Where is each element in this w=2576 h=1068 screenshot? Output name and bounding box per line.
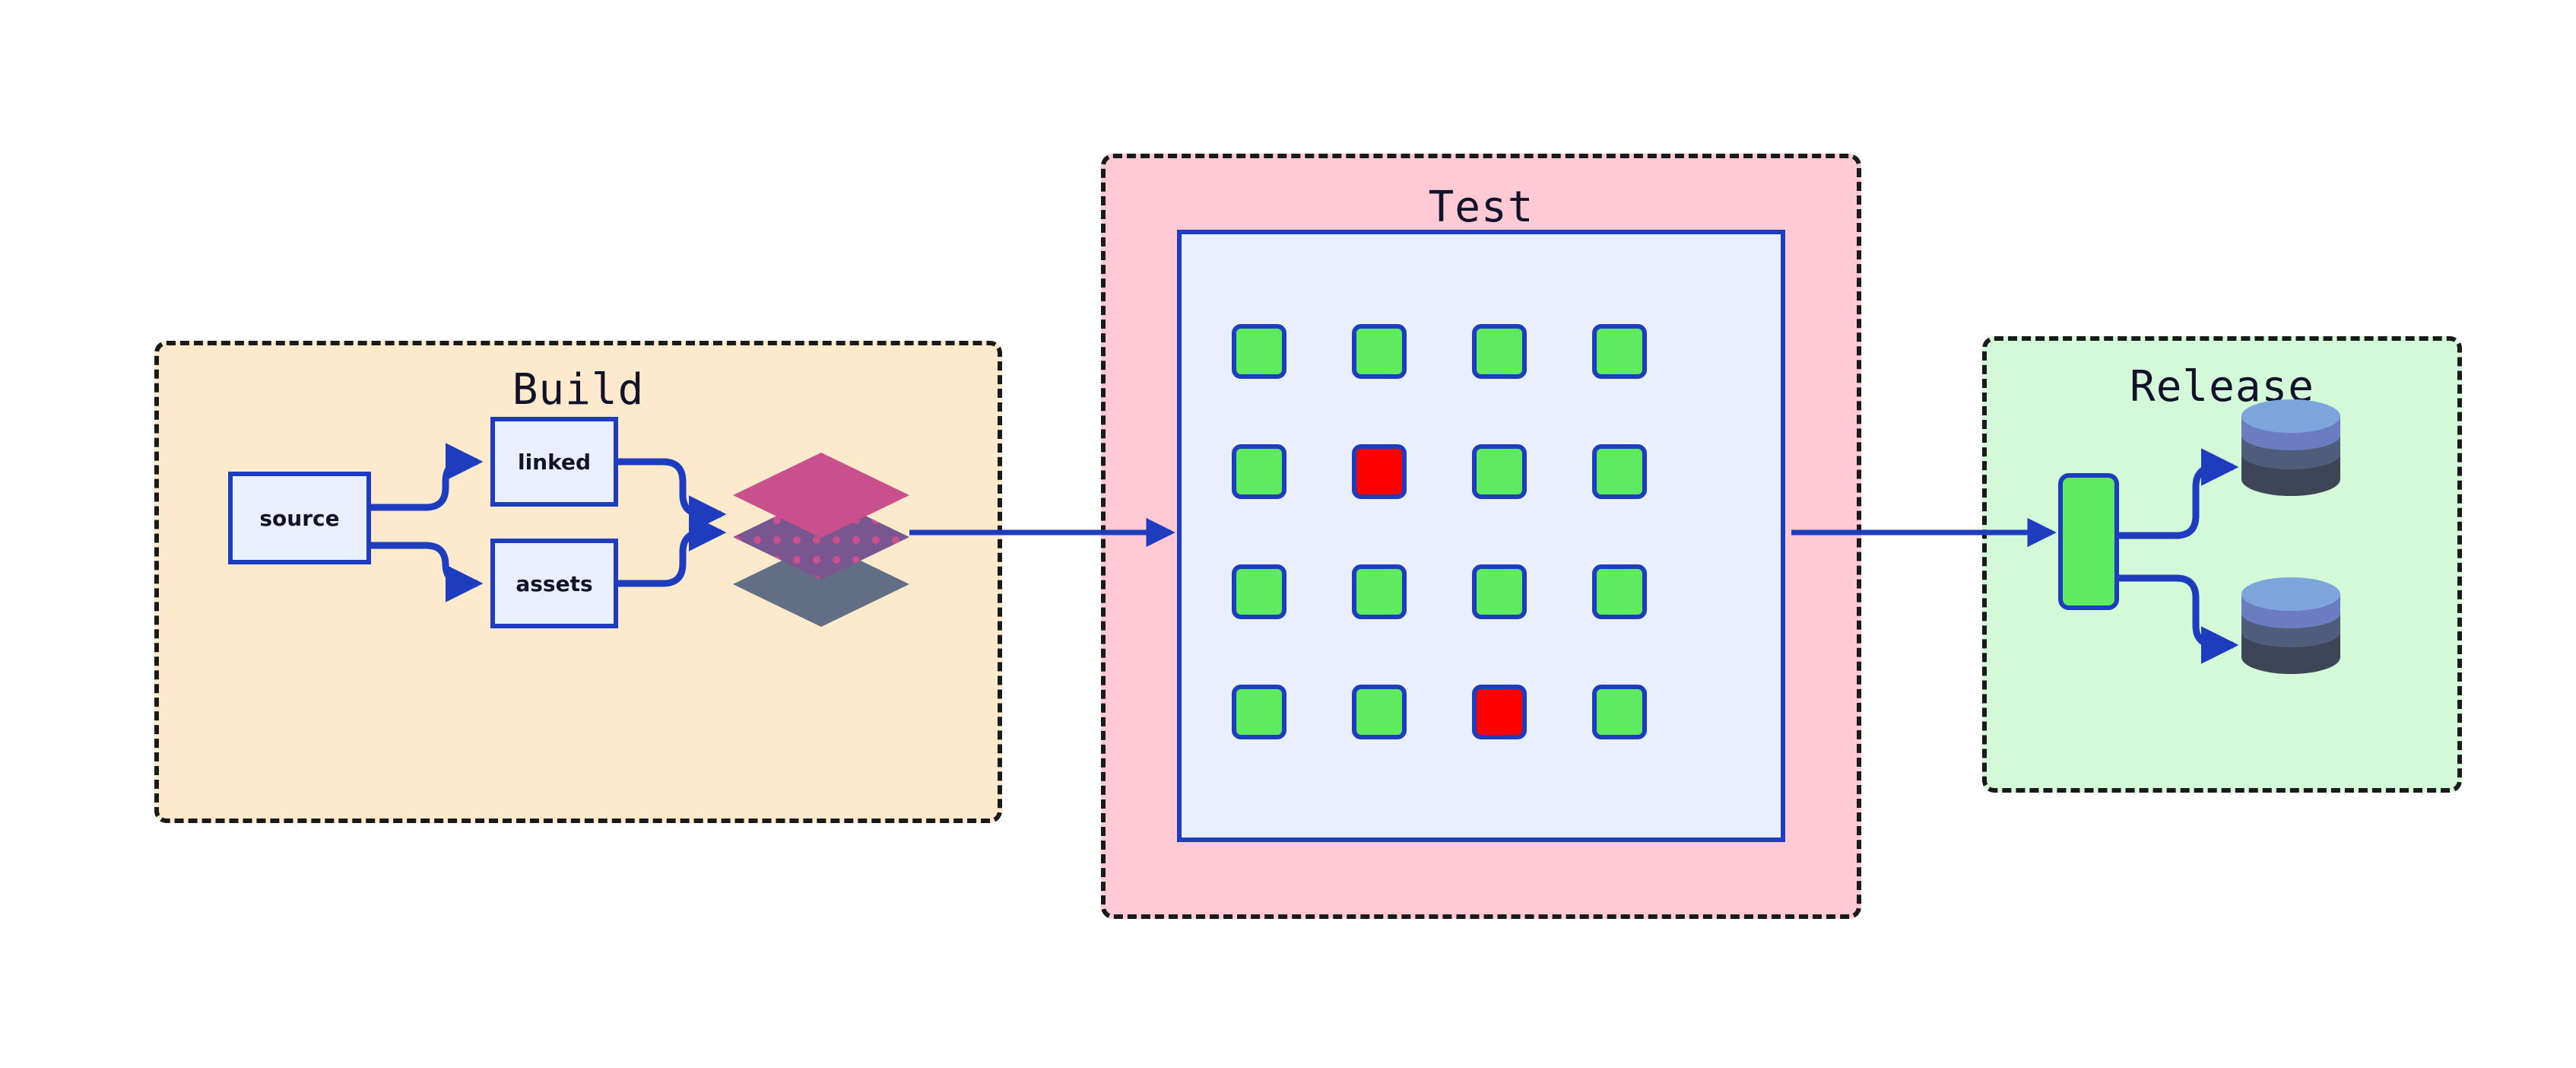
test-cell-3-4[interactable] xyxy=(1592,564,1647,619)
test-cell-2-4[interactable] xyxy=(1592,444,1647,499)
test-cell-1-4[interactable] xyxy=(1592,324,1647,379)
node-assets[interactable]: assets xyxy=(490,539,618,628)
test-cell-3-3[interactable] xyxy=(1472,564,1527,619)
test-results-grid xyxy=(1232,324,1740,739)
diagram-canvas: Build source linked assets Test Release xyxy=(0,0,2576,1068)
cluster-release[interactable]: Release xyxy=(1982,336,2462,793)
test-cell-4-4[interactable] xyxy=(1592,685,1647,739)
release-artifact-box[interactable] xyxy=(2058,473,2119,610)
test-cell-1-1[interactable] xyxy=(1232,324,1286,379)
cluster-release-title: Release xyxy=(1987,362,2457,412)
test-cell-3-2[interactable] xyxy=(1352,564,1407,619)
test-results-panel[interactable] xyxy=(1177,230,1785,842)
node-source[interactable]: source xyxy=(228,472,371,564)
node-linked-label: linked xyxy=(518,450,591,475)
node-source-label: source xyxy=(259,506,339,531)
test-cell-1-2[interactable] xyxy=(1352,324,1407,379)
test-cell-2-3[interactable] xyxy=(1472,444,1527,499)
test-cell-4-3[interactable] xyxy=(1472,685,1527,739)
node-assets-label: assets xyxy=(516,571,592,596)
test-cell-2-1[interactable] xyxy=(1232,444,1286,499)
test-cell-2-2[interactable] xyxy=(1352,444,1407,499)
test-cell-4-1[interactable] xyxy=(1232,685,1286,739)
test-cell-1-3[interactable] xyxy=(1472,324,1527,379)
cluster-test-title: Test xyxy=(1106,183,1857,232)
test-cell-4-2[interactable] xyxy=(1352,685,1407,739)
node-linked[interactable]: linked xyxy=(490,417,618,507)
cluster-build-title: Build xyxy=(159,365,998,415)
test-cell-3-1[interactable] xyxy=(1232,564,1286,619)
